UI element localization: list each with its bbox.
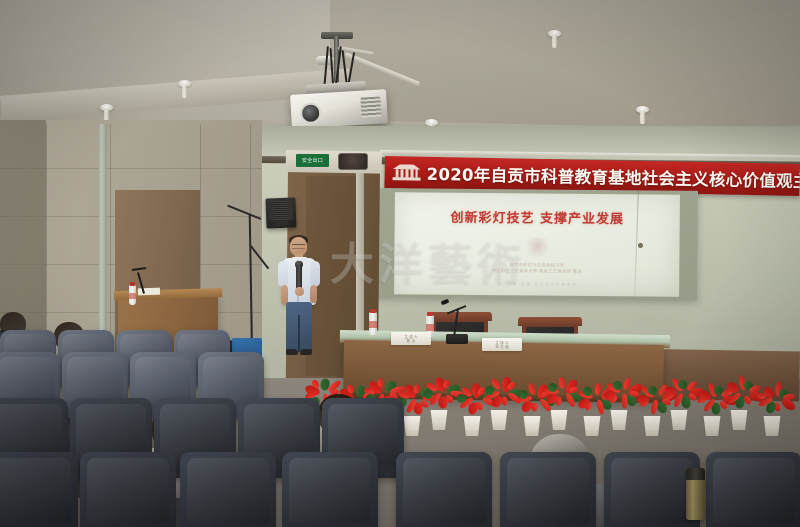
downlight-4 (636, 106, 649, 113)
water-bottle-lectern (129, 285, 136, 305)
audience-seat-r3-c0 (0, 452, 78, 527)
presenter-shoe-left (286, 349, 298, 355)
nameplate-1: 主 持 人刘 志 强 (482, 338, 522, 351)
downlight-3 (548, 30, 561, 37)
seat-cushion (611, 458, 694, 523)
water-bottle-left (369, 312, 377, 335)
slide-footer: 二〇二〇年 · 自 贡 · 彩 灯 文 化 科 普 讲 座 (394, 281, 679, 288)
downlight-1 (178, 80, 191, 87)
slide-subtitle: 自贡市彩灯行业协会秘书长 中国彩灯工艺美术大师 高级工艺美术师 陈冰 (394, 262, 679, 277)
projector-lens (300, 102, 322, 124)
seat-cushion (713, 458, 796, 523)
flower-pot-7 (522, 416, 542, 436)
flower-pot-3 (402, 416, 422, 436)
presenter-speaking (277, 237, 321, 357)
projection-screen: 创新彩灯技艺 支撑产业发展 自贡市彩灯行业协会秘书长 中国彩灯工艺美术大师 高级… (367, 188, 698, 301)
seat-cushion (0, 458, 71, 523)
seat-cushion (289, 458, 372, 523)
seat-cushion (403, 458, 486, 523)
wall-speaker (265, 197, 296, 228)
chair-crest (428, 312, 492, 321)
pavilion-emblem-icon (392, 163, 422, 182)
flower-pot-8 (549, 410, 569, 430)
projector-vent (360, 96, 381, 117)
audience-seat-r3-c7 (706, 452, 800, 527)
seat-cushion (507, 458, 590, 523)
exit-sign-text: 安全出口 (302, 157, 323, 164)
chair-crest (518, 317, 582, 326)
nameplate-0: 主 讲 人陈 冰 (391, 332, 431, 345)
presenter-leg-seam (298, 315, 300, 352)
flower-pot-5 (462, 416, 482, 436)
flower-pot-9 (582, 416, 602, 436)
audience-seat-r3-c5 (500, 452, 596, 527)
thermos-flask (686, 468, 705, 520)
nameplate-text: 主 讲 人陈 冰 (404, 335, 417, 343)
downlight-2 (425, 119, 438, 126)
flower-pot-15 (762, 416, 782, 436)
presenter-shoe-right (300, 349, 312, 355)
audience-seat-r3-c4 (396, 452, 492, 527)
wall-plaque (338, 153, 368, 170)
poinsettia-15 (753, 380, 795, 412)
slide-logo (526, 237, 548, 257)
audience-seat-r3-c2 (180, 452, 276, 527)
flower-pot-12 (669, 410, 689, 430)
flower-pot-14 (729, 410, 749, 430)
presenter-hand (295, 287, 304, 296)
flower-pot-10 (609, 410, 629, 430)
flower-pot-13 (702, 416, 722, 436)
exit-sign: 安全出口 (296, 154, 329, 167)
presenter-glasses (292, 244, 305, 249)
presenter-arm-right (310, 285, 317, 303)
downlight-0 (100, 104, 113, 111)
screen-cable-clip (638, 243, 643, 248)
seat-cushion (87, 458, 170, 523)
gooseneck-microphone-base (446, 334, 468, 344)
nameplate-text: 主 持 人刘 志 强 (495, 341, 508, 349)
presenter-sleeve-left (278, 261, 288, 287)
audience-seat-r3-c3 (282, 452, 378, 527)
ceiling-projector (290, 89, 388, 129)
speaker-grill (269, 201, 294, 221)
flower-pot-6 (489, 410, 509, 430)
wall-seam-h-0 (0, 168, 262, 169)
audience-seat-r3-c1 (80, 452, 176, 527)
flower-pot-4 (429, 410, 449, 430)
seat-cushion (187, 458, 270, 523)
conference-hall-scene: 2020年自贡市科普教育基地社会主义核心价值观主题实践活动 创新彩灯技艺 支撑产… (0, 0, 800, 527)
speaker-woofer (274, 221, 288, 226)
slide-subtitle-line-2: 中国彩灯工艺美术大师 高级工艺美术师 陈冰 (394, 268, 679, 277)
flower-pot-11 (642, 416, 662, 436)
presenter-sleeve-right (310, 261, 320, 287)
